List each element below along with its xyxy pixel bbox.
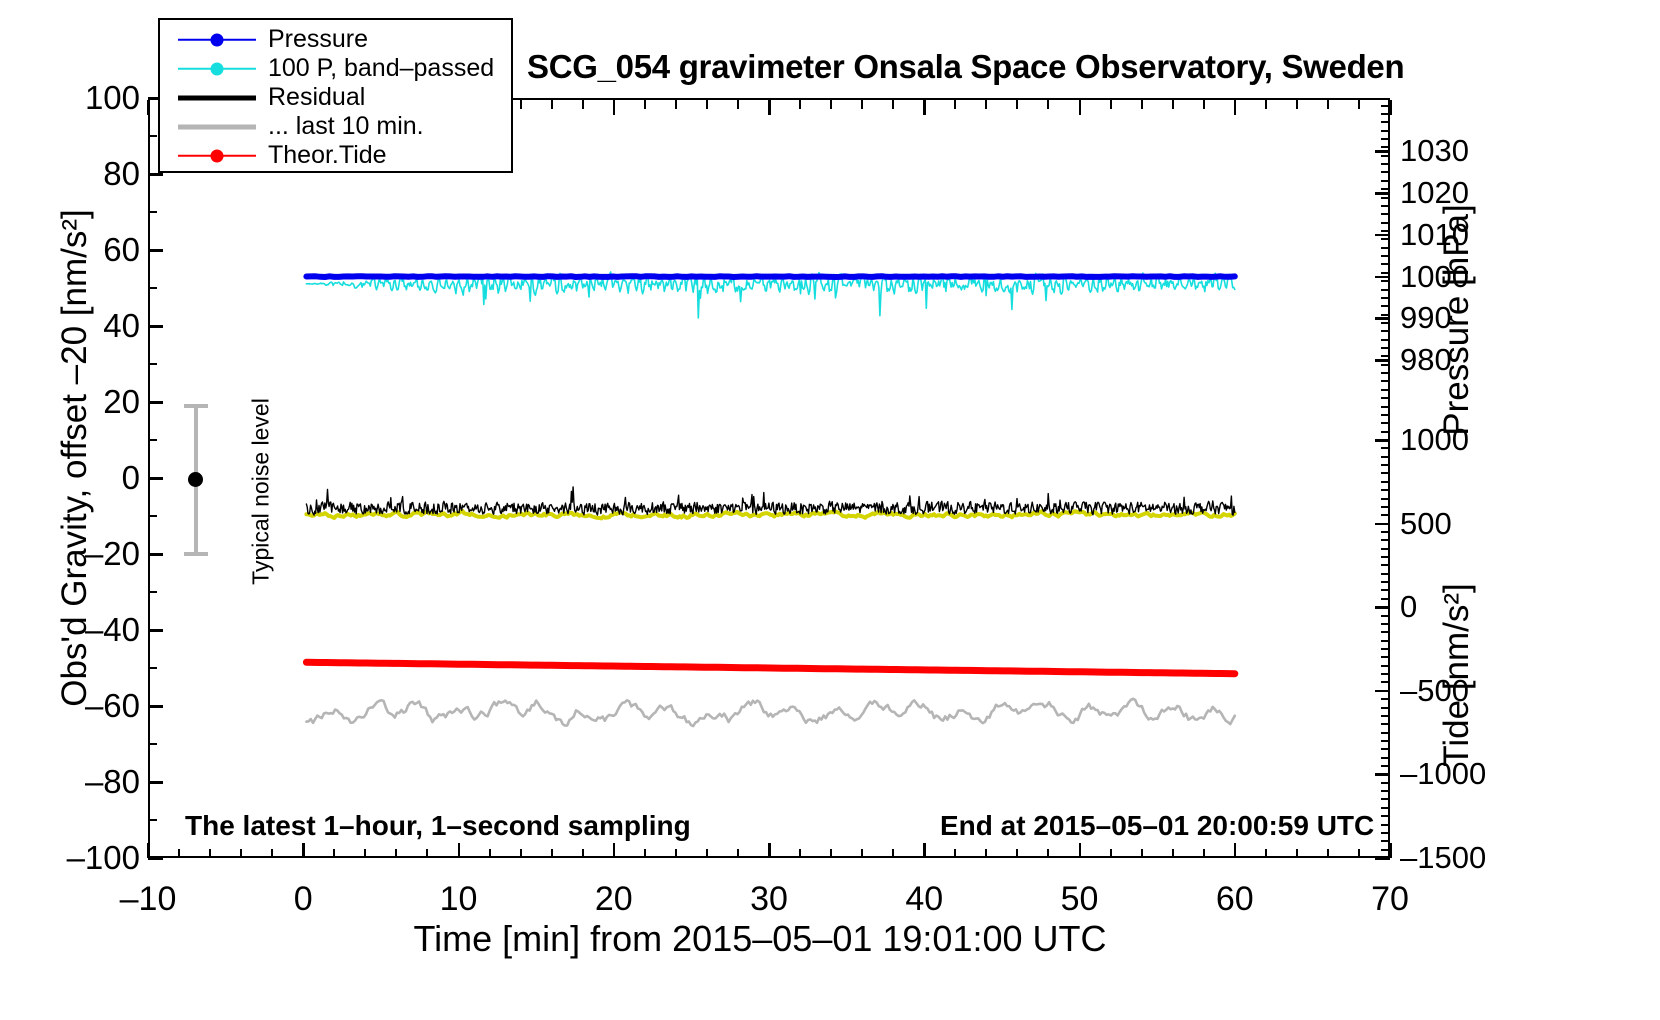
- y-tick-right-minor: [1381, 539, 1390, 541]
- x-tick-minor: [1203, 849, 1205, 858]
- x-tick: [147, 843, 150, 858]
- x-tick-top-minor: [1172, 100, 1174, 109]
- y-tick-right-minor: [1381, 289, 1390, 291]
- y-tick-right-minor: [1381, 573, 1390, 575]
- y-tick-right-minor: [1381, 188, 1390, 190]
- y-tick-label-left: –60: [0, 687, 140, 725]
- legend-swatch: [178, 146, 256, 166]
- y-tick-label-left: –80: [0, 763, 140, 801]
- x-tick-top-minor: [1203, 100, 1205, 109]
- x-tick-minor: [178, 849, 180, 858]
- y-tick-right-minor: [1381, 464, 1390, 466]
- y-tick-right-minor: [1381, 414, 1390, 416]
- x-tick-top-minor: [954, 100, 956, 109]
- y-tick-label-tide: –1000: [1400, 756, 1486, 792]
- x-tick-minor: [737, 849, 739, 858]
- x-tick-top-minor: [799, 100, 801, 109]
- y-tick-label-left: 60: [0, 231, 140, 269]
- y-tick-label-pressure: 1030: [1400, 133, 1469, 169]
- y-tick-label-left: –40: [0, 611, 140, 649]
- x-tick-top-minor: [861, 100, 863, 109]
- y-tick-left: [148, 553, 163, 556]
- y-tick-left-minor: [148, 591, 157, 593]
- y-tick-right-minor: [1381, 715, 1390, 717]
- x-tick-label: 60: [1216, 880, 1254, 919]
- y-tick-label-left: 100: [0, 79, 140, 117]
- x-tick-minor: [1141, 849, 1143, 858]
- y-tick-left-minor: [148, 211, 157, 213]
- y-tick-right-minor: [1381, 447, 1390, 449]
- y-tick-right-minor: [1381, 322, 1390, 324]
- x-tick-minor: [954, 849, 956, 858]
- legend-swatch: [178, 88, 256, 108]
- x-tick-top-minor: [1141, 100, 1143, 109]
- x-tick-minor: [551, 849, 553, 858]
- y-tick-right-minor: [1381, 498, 1390, 500]
- y-tick-right-minor: [1381, 598, 1390, 600]
- x-tick-minor: [830, 849, 832, 858]
- y-tick-right-minor: [1381, 798, 1390, 800]
- x-tick-label: –10: [120, 880, 177, 919]
- x-tick-minor: [892, 849, 894, 858]
- y-tick-right-minor: [1381, 330, 1390, 332]
- y-tick-right-minor: [1381, 456, 1390, 458]
- y-tick-right-minor: [1381, 824, 1390, 826]
- legend-label: Theor.Tide: [268, 141, 387, 170]
- y-tick-right-minor: [1381, 146, 1390, 148]
- x-tick-minor: [861, 849, 863, 858]
- y-tick-right-minor: [1381, 339, 1390, 341]
- y-tick-right-minor: [1381, 230, 1390, 232]
- x-tick: [768, 843, 771, 858]
- legend: Pressure100 P, band–passedResidual... la…: [158, 18, 513, 173]
- x-tick-minor: [395, 849, 397, 858]
- noise-level-cap-bottom: [184, 552, 208, 556]
- y-tick-right-minor: [1381, 121, 1390, 123]
- x-tick-minor: [644, 849, 646, 858]
- y-tick-right-minor: [1381, 489, 1390, 491]
- x-tick: [458, 843, 461, 858]
- legend-item-4: Theor.Tide: [160, 141, 511, 170]
- y-tick-label-tide: 1000: [1400, 422, 1469, 458]
- y-tick-right-minor: [1381, 389, 1390, 391]
- x-tick-top: [1079, 100, 1082, 115]
- y-tick-label-tide: 500: [1400, 506, 1452, 542]
- y-tick-left: [148, 249, 163, 252]
- y-tick-right-minor: [1381, 439, 1390, 441]
- x-tick-minor: [1296, 849, 1298, 858]
- y-tick-right-minor: [1381, 690, 1390, 692]
- noise-level-label: Typical noise level: [248, 372, 275, 612]
- x-tick: [302, 843, 305, 858]
- x-tick-top-minor: [1358, 100, 1360, 109]
- y-tick-right-minor: [1381, 481, 1390, 483]
- y-tick-right-minor: [1381, 648, 1390, 650]
- y-tick-right-minor: [1381, 355, 1390, 357]
- y-tick-label-pressure: 980: [1400, 342, 1452, 378]
- y-tick-left-minor: [148, 667, 157, 669]
- y-tick-label-left: –20: [0, 535, 140, 573]
- sampling-note: The latest 1–hour, 1–second sampling: [185, 810, 691, 842]
- legend-label: 100 P, band–passed: [268, 54, 494, 83]
- y-tick-right-minor: [1381, 815, 1390, 817]
- y-tick-right-minor: [1381, 197, 1390, 199]
- x-tick: [923, 843, 926, 858]
- x-tick-minor: [364, 849, 366, 858]
- y-tick-right-minor: [1381, 606, 1390, 608]
- x-tick: [1389, 843, 1392, 858]
- x-tick-minor: [426, 849, 428, 858]
- x-tick-top-minor: [644, 100, 646, 109]
- y-tick-right-minor: [1381, 213, 1390, 215]
- y-tick-right-minor: [1381, 631, 1390, 633]
- x-tick-top: [147, 100, 150, 115]
- y-tick-right-minor: [1381, 640, 1390, 642]
- y-tick-right-minor: [1381, 548, 1390, 550]
- x-tick-top-minor: [1296, 100, 1298, 109]
- y-tick-right-minor: [1381, 272, 1390, 274]
- legend-item-0: Pressure: [160, 25, 511, 54]
- x-tick-minor: [799, 849, 801, 858]
- y-tick-right-minor: [1381, 773, 1390, 775]
- x-tick-top-minor: [706, 100, 708, 109]
- legend-swatch: [178, 30, 256, 50]
- legend-item-1: 100 P, band–passed: [160, 54, 511, 83]
- x-tick-label: 50: [1061, 880, 1099, 919]
- y-tick-left: [148, 401, 163, 404]
- y-tick-left: [148, 705, 163, 708]
- y-tick-label-left: 80: [0, 155, 140, 193]
- y-tick-right-minor: [1381, 506, 1390, 508]
- y-tick-right-minor: [1381, 171, 1390, 173]
- x-tick-minor: [985, 849, 987, 858]
- x-tick-minor: [1047, 849, 1049, 858]
- x-tick-top-minor: [737, 100, 739, 109]
- y-tick-right-minor: [1381, 138, 1390, 140]
- y-tick-right-minor: [1381, 782, 1390, 784]
- x-tick-top: [923, 100, 926, 115]
- y-tick-left-minor: [148, 515, 157, 517]
- y-tick-right-minor: [1381, 380, 1390, 382]
- x-tick-top-minor: [675, 100, 677, 109]
- y-tick-right-minor: [1381, 707, 1390, 709]
- y-tick-pressure: [1375, 234, 1390, 237]
- series-paths: [150, 100, 1388, 856]
- plot-area: [148, 98, 1390, 858]
- legend-label: ... last 10 min.: [268, 112, 424, 141]
- y-tick-label-pressure: 1000: [1400, 259, 1469, 295]
- y-tick-left-minor: [148, 135, 157, 137]
- y-tick-right-minor: [1381, 681, 1390, 683]
- legend-line: [178, 124, 256, 129]
- series-layer: [150, 100, 1388, 856]
- series-last-10-min: [306, 699, 1234, 726]
- x-tick-top: [1234, 100, 1237, 115]
- x-tick-minor: [1110, 849, 1112, 858]
- y-tick-right-minor: [1381, 723, 1390, 725]
- x-tick-label: 30: [750, 880, 788, 919]
- y-tick-right-minor: [1381, 514, 1390, 516]
- y-tick-right-minor: [1381, 364, 1390, 366]
- legend-marker-dot: [211, 149, 224, 162]
- x-tick-label: 0: [294, 880, 313, 919]
- y-tick-right-minor: [1381, 757, 1390, 759]
- x-tick-label: 40: [905, 880, 943, 919]
- x-tick-minor: [209, 849, 211, 858]
- x-tick-minor: [1327, 849, 1329, 858]
- x-tick-minor: [333, 849, 335, 858]
- y-tick-right-minor: [1381, 698, 1390, 700]
- y-tick-left-minor: [148, 819, 157, 821]
- y-tick-left-minor: [148, 363, 157, 365]
- y-tick-right-minor: [1381, 205, 1390, 207]
- legend-marker-dot: [211, 62, 224, 75]
- y-tick-left: [148, 629, 163, 632]
- x-tick-label: 10: [440, 880, 478, 919]
- legend-item-2: Residual: [160, 83, 511, 112]
- y-tick-right-minor: [1381, 297, 1390, 299]
- y-tick-right-minor: [1381, 790, 1390, 792]
- chart-title: SCG_054 gravimeter Onsala Space Observat…: [527, 48, 1404, 86]
- legend-item-3: ... last 10 min.: [160, 112, 511, 141]
- y-tick-right-minor: [1381, 305, 1390, 307]
- x-tick-label: 20: [595, 880, 633, 919]
- x-tick-minor: [706, 849, 708, 858]
- y-tick-right-minor: [1381, 615, 1390, 617]
- series-residual-smoothed: [306, 511, 1234, 519]
- y-tick-right-minor: [1381, 406, 1390, 408]
- y-tick-label-pressure: 1020: [1400, 175, 1469, 211]
- x-tick-top: [613, 100, 616, 115]
- y-tick-left-minor: [148, 439, 157, 441]
- x-tick-top: [1389, 100, 1392, 115]
- y-tick-label-tide: –500: [1400, 673, 1469, 709]
- y-tick-right-minor: [1381, 130, 1390, 132]
- y-tick-label-left: 20: [0, 383, 140, 421]
- x-tick-minor: [489, 849, 491, 858]
- y-tick-right-minor: [1381, 581, 1390, 583]
- x-tick-top-minor: [520, 100, 522, 109]
- y-tick-right-minor: [1381, 431, 1390, 433]
- series-pressure: [306, 276, 1234, 277]
- x-tick-top-minor: [1047, 100, 1049, 109]
- x-tick-top: [768, 100, 771, 115]
- y-tick-left-minor: [148, 743, 157, 745]
- y-tick-right-minor: [1381, 732, 1390, 734]
- y-tick-right-minor: [1381, 372, 1390, 374]
- y-tick-right-minor: [1381, 314, 1390, 316]
- y-tick-left: [148, 857, 163, 860]
- x-tick-minor: [1358, 849, 1360, 858]
- x-tick-minor: [240, 849, 242, 858]
- y-tick-right-minor: [1381, 531, 1390, 533]
- x-tick-top-minor: [830, 100, 832, 109]
- y-tick-label-left: 0: [0, 459, 140, 497]
- x-tick: [613, 843, 616, 858]
- y-tick-right-minor: [1381, 238, 1390, 240]
- legend-label: Residual: [268, 83, 365, 112]
- noise-level-cap-top: [184, 404, 208, 408]
- y-tick-label-left: 40: [0, 307, 140, 345]
- y-tick-right-minor: [1381, 556, 1390, 558]
- y-tick-label-pressure: 990: [1400, 300, 1452, 336]
- y-tick-left: [148, 477, 163, 480]
- x-tick-minor: [675, 849, 677, 858]
- y-tick-right-minor: [1381, 523, 1390, 525]
- y-tick-right-minor: [1381, 222, 1390, 224]
- y-tick-right-minor: [1381, 740, 1390, 742]
- y-tick-right-minor: [1381, 656, 1390, 658]
- x-tick-top-minor: [1265, 100, 1267, 109]
- x-tick-minor: [1016, 849, 1018, 858]
- y-tick-right-minor: [1381, 180, 1390, 182]
- y-tick-right-minor: [1381, 765, 1390, 767]
- x-tick-minor: [271, 849, 273, 858]
- y-tick-pressure: [1375, 317, 1390, 320]
- y-tick-right-minor: [1381, 665, 1390, 667]
- y-tick-right-minor: [1381, 247, 1390, 249]
- y-tick-right-minor: [1381, 840, 1390, 842]
- y-tick-right-minor: [1381, 673, 1390, 675]
- series-theor-tide: [306, 662, 1234, 673]
- y-tick-pressure: [1375, 150, 1390, 153]
- y-tick-pressure: [1375, 192, 1390, 195]
- y-tick-right-minor: [1381, 564, 1390, 566]
- y-tick-pressure: [1375, 359, 1390, 362]
- x-tick: [1234, 843, 1237, 858]
- end-time-note: End at 2015–05–01 20:00:59 UTC: [940, 810, 1374, 842]
- y-tick-right-minor: [1381, 748, 1390, 750]
- legend-swatch: [178, 59, 256, 79]
- legend-swatch: [178, 117, 256, 137]
- x-tick-minor: [1172, 849, 1174, 858]
- x-tick-top-minor: [985, 100, 987, 109]
- x-tick-top-minor: [892, 100, 894, 109]
- y-tick-label-tide: 0: [1400, 589, 1417, 625]
- y-tick-right-minor: [1381, 155, 1390, 157]
- y-tick-left-minor: [148, 287, 157, 289]
- y-tick-right-minor: [1381, 807, 1390, 809]
- y-tick-right-minor: [1381, 347, 1390, 349]
- x-tick-top-minor: [1110, 100, 1112, 109]
- y-tick-right-minor: [1381, 397, 1390, 399]
- y-tick-left: [148, 325, 163, 328]
- y-tick-right-minor: [1381, 163, 1390, 165]
- y-tick-label-left: –100: [0, 839, 140, 877]
- y-tick-pressure: [1375, 276, 1390, 279]
- y-tick-right-minor: [1381, 255, 1390, 257]
- y-tick-label-pressure: 1010: [1400, 217, 1469, 253]
- x-tick-label: 70: [1371, 880, 1409, 919]
- y-tick-left: [148, 173, 163, 176]
- x-tick-minor: [582, 849, 584, 858]
- y-tick-left: [148, 781, 163, 784]
- x-tick-minor: [520, 849, 522, 858]
- y-tick-right-minor: [1381, 832, 1390, 834]
- legend-label: Pressure: [268, 25, 368, 54]
- chart-root: SCG_054 gravimeter Onsala Space Observat…: [0, 0, 1660, 1020]
- legend-marker-dot: [211, 33, 224, 46]
- y-tick-right-minor: [1381, 472, 1390, 474]
- x-tick-top-minor: [551, 100, 553, 109]
- x-axis-label: Time [min] from 2015–05–01 19:01:00 UTC: [0, 918, 1520, 960]
- y-tick-right-minor: [1381, 263, 1390, 265]
- legend-line: [178, 95, 256, 100]
- x-tick-top-minor: [1327, 100, 1329, 109]
- y-tick-label-tide: –1500: [1400, 840, 1486, 876]
- x-tick-minor: [1265, 849, 1267, 858]
- y-tick-right-minor: [1381, 422, 1390, 424]
- y-tick-right-minor: [1381, 623, 1390, 625]
- noise-level-point: [188, 472, 203, 487]
- x-tick: [1079, 843, 1082, 858]
- x-tick-top-minor: [582, 100, 584, 109]
- y-tick-right-minor: [1381, 589, 1390, 591]
- x-tick-top-minor: [1016, 100, 1018, 109]
- y-tick-right-minor: [1381, 280, 1390, 282]
